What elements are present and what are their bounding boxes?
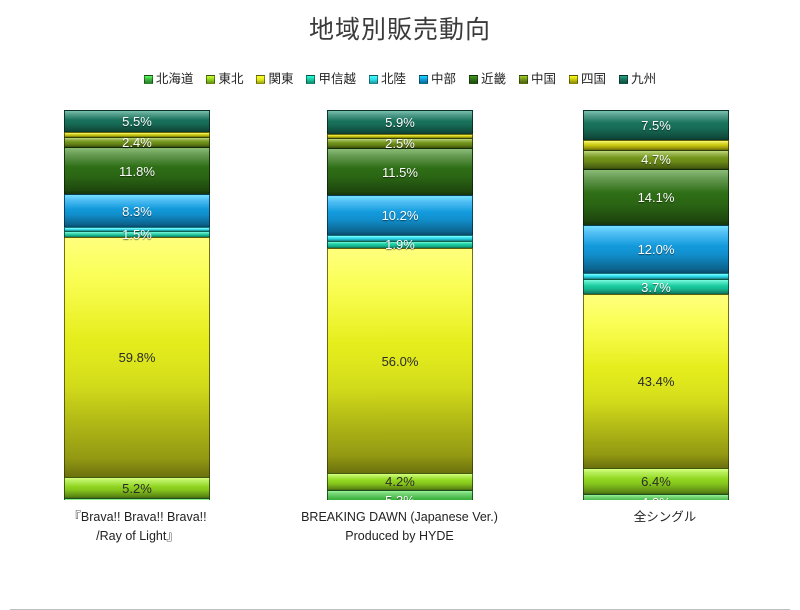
bar-segment[interactable]: 5.3% bbox=[327, 490, 473, 500]
bar-segment[interactable]: 5.9% bbox=[327, 110, 473, 134]
legend-swatch-icon bbox=[519, 75, 528, 84]
legend-item[interactable]: 四国 bbox=[569, 73, 606, 86]
legend-swatch-icon bbox=[569, 75, 578, 84]
segment-value-label: 12.0% bbox=[638, 243, 675, 256]
bar-segment[interactable]: 12.0% bbox=[583, 225, 729, 273]
segment-gloss bbox=[584, 141, 728, 145]
legend-swatch-icon bbox=[144, 75, 153, 84]
bar-segment[interactable]: 56.0% bbox=[327, 248, 473, 473]
chart-container: 地域別販売動向 北海道東北関東甲信越北陸中部近畿中国四国九州 5.5%2.4%1… bbox=[0, 0, 800, 576]
bar-segment[interactable]: 11.8% bbox=[64, 147, 210, 194]
legend-item[interactable]: 九州 bbox=[619, 73, 656, 86]
x-axis-label: 『Brava!! Brava!! Brava!!/Ray of Light』 bbox=[20, 508, 255, 546]
segment-gloss bbox=[584, 295, 728, 368]
bar-segment[interactable]: 2.4% bbox=[64, 137, 210, 147]
bar-segment[interactable]: 4.2% bbox=[327, 473, 473, 490]
segment-value-label: 3.2% bbox=[122, 498, 152, 500]
segment-shadow bbox=[328, 388, 472, 473]
chart-title: 地域別販売動向 bbox=[0, 10, 800, 46]
legend-label: 近畿 bbox=[481, 73, 506, 86]
segment-value-label: 11.8% bbox=[119, 165, 155, 178]
legend-swatch-icon bbox=[369, 75, 378, 84]
stacked-bar[interactable]: 5.5%2.4%11.8%8.3%1.5%59.8%5.2%3.2% bbox=[64, 110, 210, 500]
legend-label: 北海道 bbox=[156, 73, 194, 86]
segment-value-label: 14.1% bbox=[638, 191, 675, 204]
segment-value-label: 1.5% bbox=[122, 228, 152, 241]
segment-value-label: 10.2% bbox=[382, 209, 419, 222]
segment-value-label: 2.4% bbox=[122, 136, 152, 149]
legend-label: 北陸 bbox=[381, 73, 406, 86]
segment-shadow bbox=[328, 177, 472, 194]
plot-area: 5.5%2.4%11.8%8.3%1.5%59.8%5.2%3.2%5.9%2.… bbox=[0, 110, 800, 500]
x-axis-label-line1: 全シングル bbox=[555, 508, 775, 527]
segment-value-label: 5.5% bbox=[122, 115, 152, 128]
legend-label: 九州 bbox=[631, 73, 656, 86]
segment-value-label: 5.9% bbox=[385, 116, 415, 129]
segment-value-label: 8.3% bbox=[122, 205, 152, 218]
segment-value-label: 4.3% bbox=[641, 496, 671, 500]
segment-value-label: 1.9% bbox=[385, 238, 415, 251]
segment-value-label: 3.7% bbox=[641, 281, 671, 294]
segment-value-label: 4.2% bbox=[385, 475, 415, 488]
segment-shadow bbox=[584, 255, 728, 273]
bar-segment[interactable]: 6.4% bbox=[583, 468, 729, 494]
segment-value-label: 43.4% bbox=[638, 375, 675, 388]
segment-gloss bbox=[584, 274, 728, 276]
segment-shadow bbox=[584, 402, 728, 468]
x-axis-label-line1: 『Brava!! Brava!! Brava!! bbox=[20, 508, 255, 527]
stacked-bar[interactable]: 7.5%4.7%14.1%12.0%3.7%43.4%6.4%4.3% bbox=[583, 110, 729, 500]
segment-value-label: 11.5% bbox=[382, 166, 418, 179]
x-axis-label: 全シングル bbox=[555, 508, 775, 527]
bar-segment[interactable]: 59.8% bbox=[64, 237, 210, 477]
legend-swatch-icon bbox=[619, 75, 628, 84]
segment-value-label: 2.5% bbox=[385, 137, 415, 150]
bar-segment[interactable]: 5.2% bbox=[64, 477, 210, 498]
bar-segment[interactable]: 43.4% bbox=[583, 294, 729, 468]
bar-segment[interactable]: 14.1% bbox=[583, 169, 729, 226]
legend-swatch-icon bbox=[256, 75, 265, 84]
legend-swatch-icon bbox=[419, 75, 428, 84]
x-axis-label-line1: BREAKING DAWN (Japanese Ver.) bbox=[268, 508, 531, 527]
bar-segment[interactable] bbox=[583, 140, 729, 150]
bar-segment[interactable]: 2.5% bbox=[327, 138, 473, 148]
legend-item[interactable]: 北陸 bbox=[369, 73, 406, 86]
legend-label: 中国 bbox=[531, 73, 556, 86]
segment-value-label: 56.0% bbox=[382, 355, 419, 368]
stacked-bar[interactable]: 5.9%2.5%11.5%10.2%1.9%56.0%4.2%5.3% bbox=[327, 110, 473, 500]
bar-segment[interactable]: 4.3% bbox=[583, 494, 729, 500]
legend-swatch-icon bbox=[306, 75, 315, 84]
bar-segment[interactable]: 8.3% bbox=[64, 194, 210, 227]
segment-shadow bbox=[65, 386, 209, 477]
legend-label: 中部 bbox=[431, 73, 456, 86]
segment-gloss bbox=[65, 238, 209, 338]
x-axis-label-line2: Produced by HYDE bbox=[268, 527, 531, 546]
legend-label: 東北 bbox=[218, 73, 243, 86]
bar-segment[interactable]: 3.2% bbox=[64, 498, 210, 500]
bar-segment[interactable]: 7.5% bbox=[583, 110, 729, 140]
x-axis-label: BREAKING DAWN (Japanese Ver.)Produced by… bbox=[268, 508, 531, 546]
bar-segment[interactable]: 4.7% bbox=[583, 150, 729, 169]
segment-value-label: 5.2% bbox=[122, 482, 152, 495]
chart-legend: 北海道東北関東甲信越北陸中部近畿中国四国九州 bbox=[0, 73, 800, 86]
legend-label: 甲信越 bbox=[318, 73, 356, 86]
legend-item[interactable]: 中国 bbox=[519, 73, 556, 86]
legend-item[interactable]: 東北 bbox=[206, 73, 243, 86]
segment-shadow bbox=[65, 177, 209, 195]
bar-segment[interactable]: 10.2% bbox=[327, 195, 473, 236]
legend-swatch-icon bbox=[206, 75, 215, 84]
legend-label: 四国 bbox=[581, 73, 606, 86]
legend-item[interactable]: 甲信越 bbox=[306, 73, 356, 86]
segment-gloss bbox=[328, 249, 472, 343]
bar-segment[interactable]: 11.5% bbox=[327, 148, 473, 194]
plot-clip: 5.5%2.4%11.8%8.3%1.5%59.8%5.2%3.2%5.9%2.… bbox=[0, 110, 800, 500]
bar-segment[interactable]: 1.9% bbox=[327, 241, 473, 249]
bar-segment[interactable]: 5.5% bbox=[64, 110, 210, 132]
segment-shadow bbox=[584, 204, 728, 225]
segment-value-label: 59.8% bbox=[119, 351, 156, 364]
legend-item[interactable]: 中部 bbox=[419, 73, 456, 86]
legend-item[interactable]: 北海道 bbox=[144, 73, 194, 86]
legend-item[interactable]: 近畿 bbox=[469, 73, 506, 86]
segment-value-label: 5.3% bbox=[385, 494, 415, 500]
legend-swatch-icon bbox=[469, 75, 478, 84]
x-axis-label-line2: /Ray of Light』 bbox=[20, 527, 255, 546]
segment-value-label: 6.4% bbox=[641, 475, 671, 488]
bar-segment[interactable]: 3.7% bbox=[583, 279, 729, 294]
segment-value-label: 4.7% bbox=[641, 153, 671, 166]
segment-value-label: 7.5% bbox=[641, 119, 671, 132]
legend-label: 関東 bbox=[268, 73, 293, 86]
legend-item[interactable]: 関東 bbox=[256, 73, 293, 86]
